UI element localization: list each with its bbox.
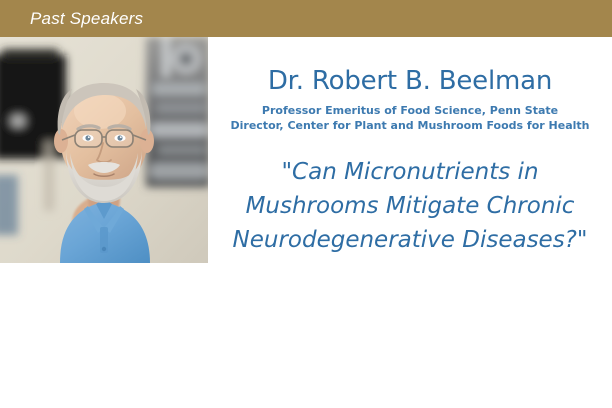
speaker-title-line-1: Professor Emeritus of Food Science, Penn…: [216, 103, 604, 118]
speaker-info-panel: Dr. Robert B. Beelman Professor Emeritus…: [208, 37, 612, 263]
past-speakers-banner: Past Speakers: [0, 0, 612, 37]
speaker-portrait: [0, 37, 208, 263]
banner-title: Past Speakers: [30, 9, 143, 29]
talk-title: "Can Micronutrients in Mushrooms Mitigat…: [216, 133, 604, 257]
talk-title-line-2: Mushrooms Mitigate Chronic: [216, 189, 604, 223]
speaker-portrait-photo: [0, 37, 208, 263]
blank-canvas-area: [0, 263, 612, 408]
talk-title-line-1: "Can Micronutrients in: [216, 155, 604, 189]
speaker-name: Dr. Robert B. Beelman: [216, 37, 604, 97]
talk-title-line-3: Neurodegenerative Diseases?": [216, 223, 604, 257]
speaker-title-line-2: Director, Center for Plant and Mushroom …: [216, 118, 604, 133]
